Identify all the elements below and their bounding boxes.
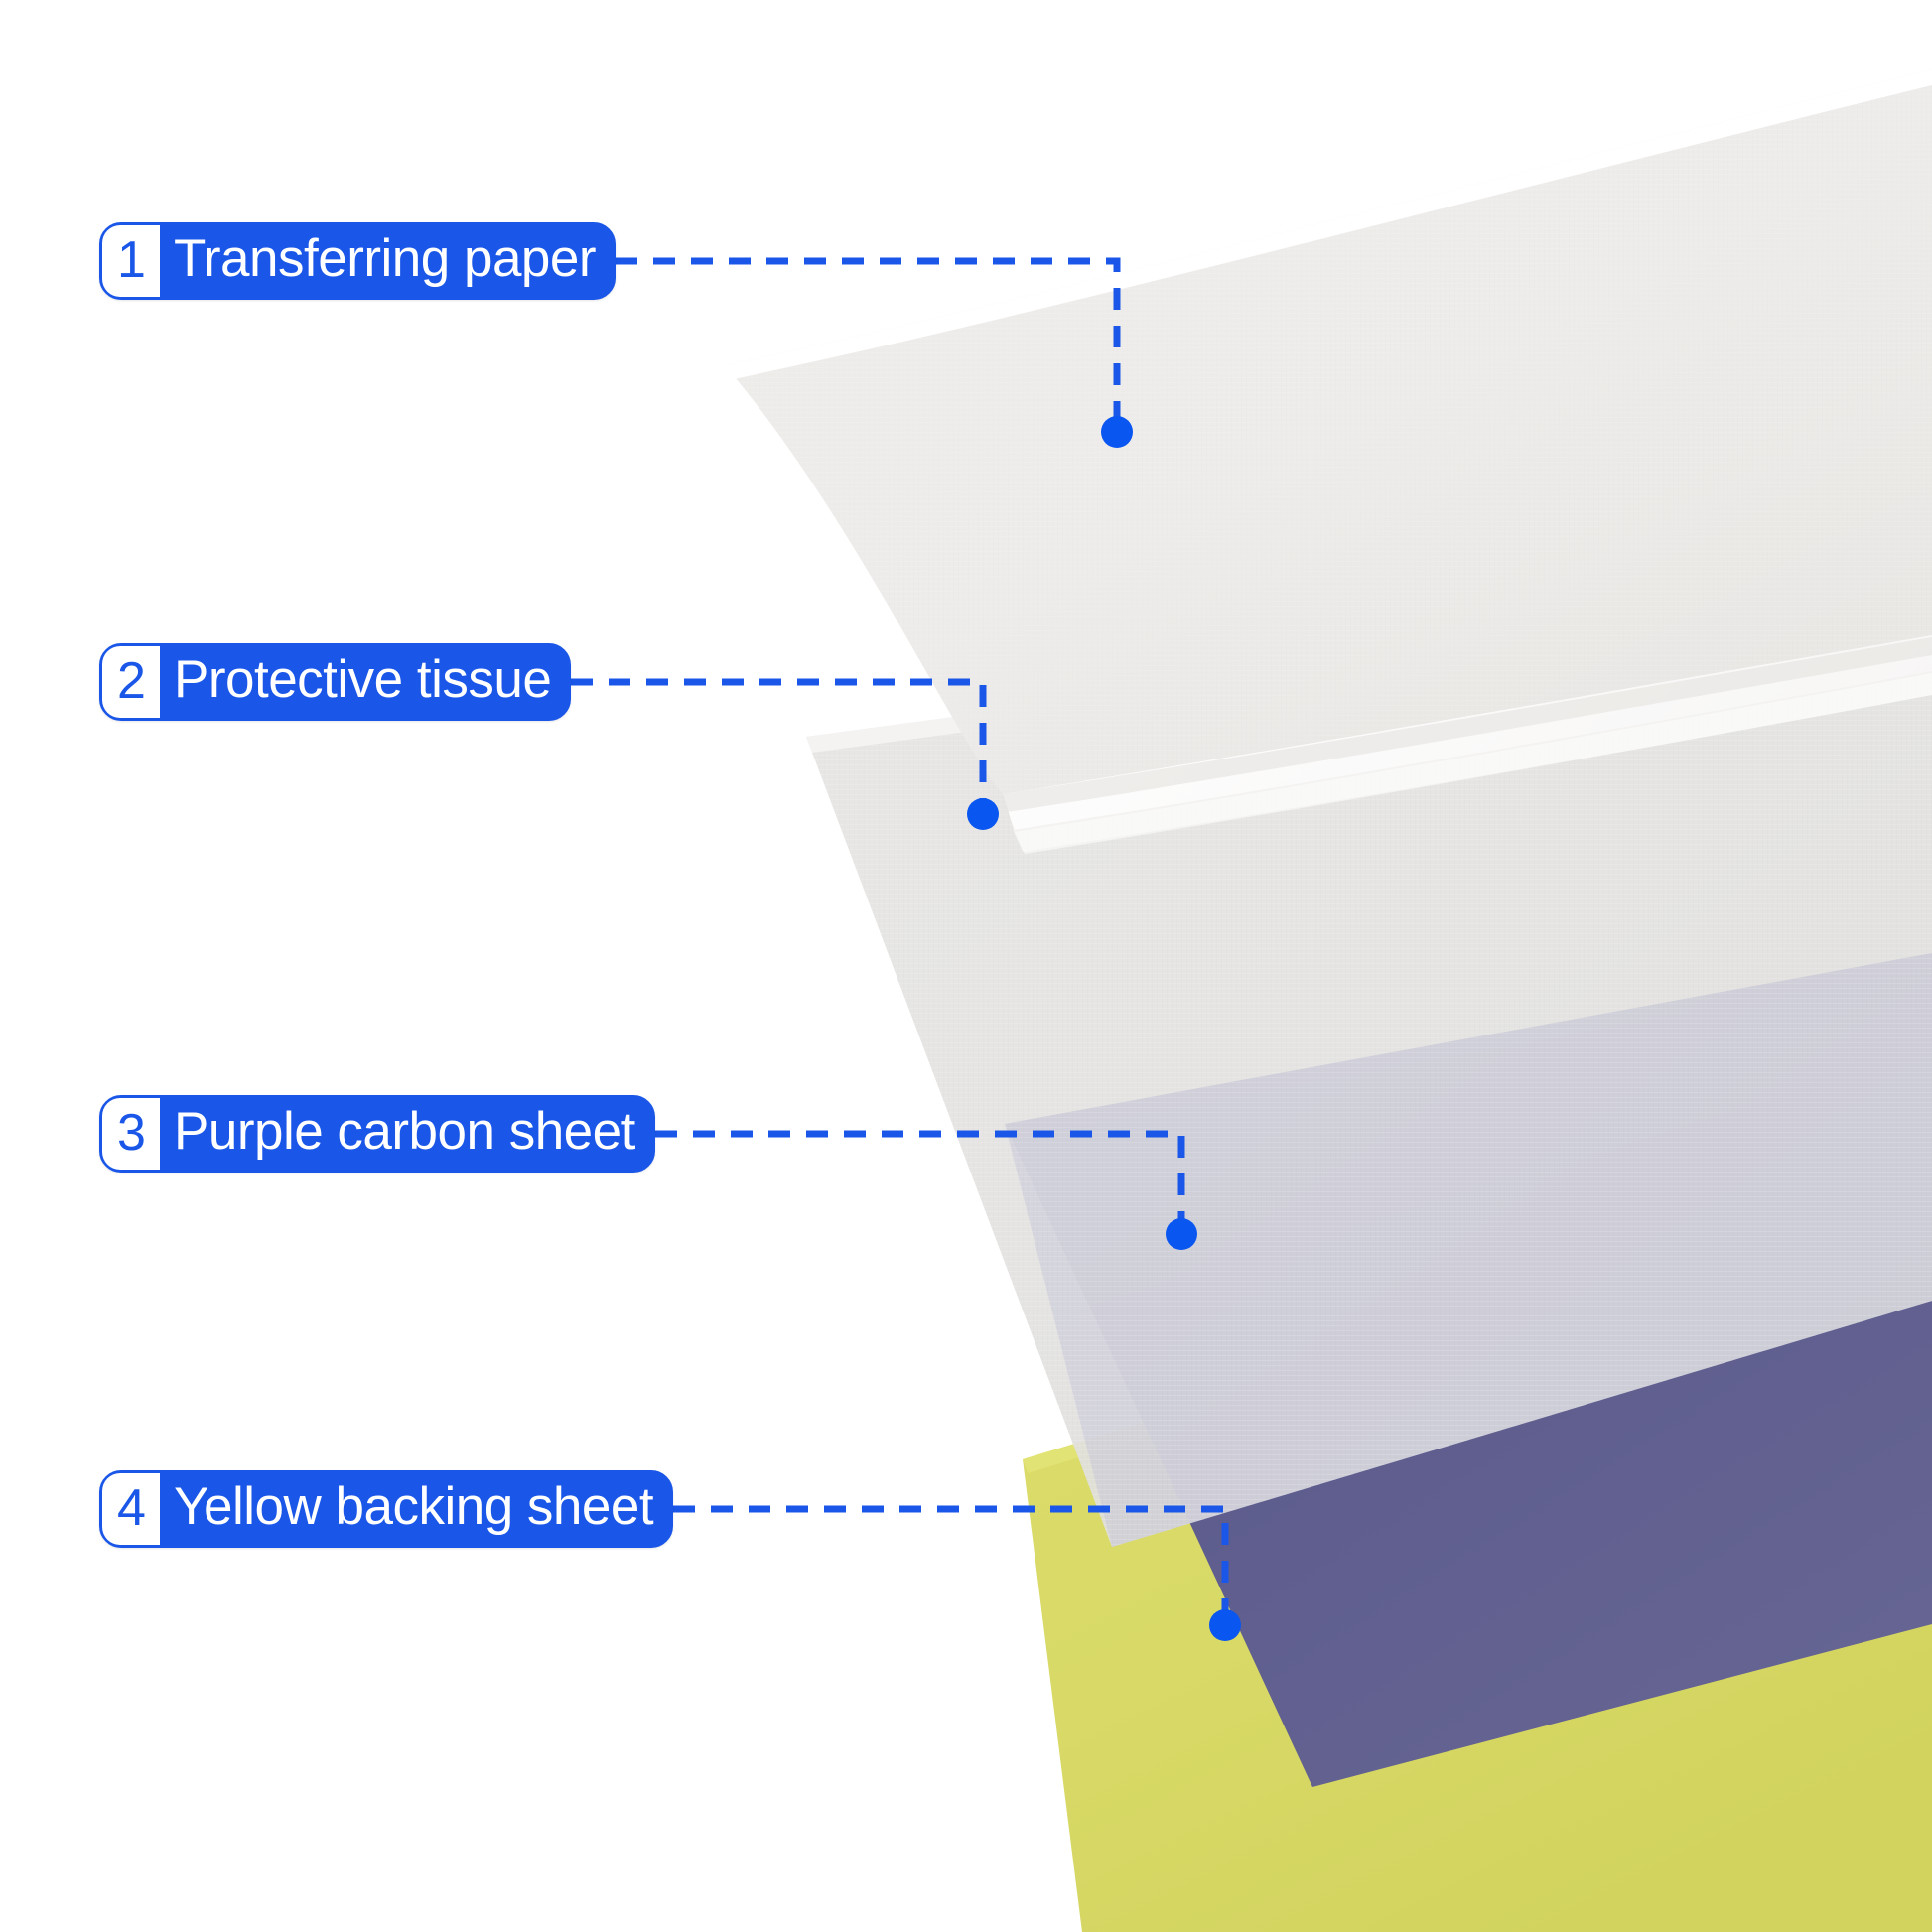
- leader-dot-1: [1101, 416, 1133, 448]
- callout-label-2: Protective tissue: [160, 646, 568, 718]
- diagram-canvas: 1 Transferring paper 2 Protective tissue…: [0, 0, 1932, 1932]
- callout-protective-tissue[interactable]: 2 Protective tissue: [99, 643, 571, 721]
- leader-dot-4: [1209, 1609, 1241, 1641]
- callout-yellow-backing-sheet[interactable]: 4 Yellow backing sheet: [99, 1470, 673, 1548]
- leader-dot-3: [1166, 1218, 1197, 1250]
- callout-number-badge-3: 3: [102, 1098, 160, 1170]
- callout-number-badge-2: 2: [102, 646, 160, 718]
- callout-label-4: Yellow backing sheet: [160, 1473, 670, 1545]
- callout-label-1: Transferring paper: [160, 225, 613, 297]
- callout-transferring-paper[interactable]: 1 Transferring paper: [99, 222, 616, 300]
- callout-label-3: Purple carbon sheet: [160, 1098, 652, 1170]
- callout-number-badge-1: 1: [102, 225, 160, 297]
- leader-dot-2: [967, 798, 999, 830]
- callout-purple-carbon-sheet[interactable]: 3 Purple carbon sheet: [99, 1095, 655, 1173]
- callout-number-badge-4: 4: [102, 1473, 160, 1545]
